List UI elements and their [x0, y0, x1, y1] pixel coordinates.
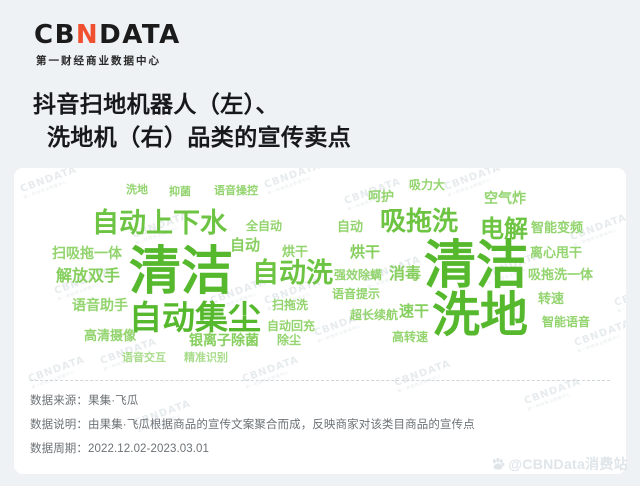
wordcloud-word: 洗地 [126, 185, 148, 196]
wordcloud-word: 高清摄像 [84, 329, 136, 342]
logo-text-part1: CB [34, 22, 76, 48]
logo-text-accent-n: N [76, 22, 99, 48]
wordcloud-word: 智能语音 [542, 316, 590, 328]
page-title: 抖音扫地机器人（左）、 洗地机（右）品类的宣传卖点 [33, 88, 593, 153]
page-title-line-2: 洗地机（右）品类的宣传卖点 [33, 121, 593, 154]
footer-divider [30, 380, 610, 381]
cbndata-logo: CB N DATA [34, 22, 434, 48]
wordcloud-word: 烘干 [350, 245, 380, 260]
wordcloud-word: 智能变频 [531, 221, 583, 234]
wordcloud-word: 全自动 [246, 220, 282, 232]
wordcloud-word: 语音提示 [332, 288, 380, 300]
wordcloud-word: 语音助手 [72, 298, 128, 312]
attribution: @CBNData消费站 [491, 454, 628, 474]
wordcloud-word: 超长续航 [350, 309, 398, 321]
wordcloud-word: 除尘 [277, 334, 301, 346]
wordcloud-word: 自动回充 [267, 320, 315, 332]
wordcloud-word: 精准识别 [184, 353, 228, 364]
logo-text-part2: DATA [99, 22, 181, 48]
wordcloud-word: 电解 [480, 218, 528, 242]
wordcloud-word: 解放双手 [56, 269, 120, 285]
wordcloud-word: 银离子除菌 [189, 333, 259, 347]
logo-subtitle: 第一财经商业数据中心 [34, 53, 434, 68]
wordcloud-word: 自动 [337, 220, 363, 233]
brand-header: CB N DATA 第一财经商业数据中心 [34, 22, 434, 68]
wordcloud-left-robot-vacuum: 清洁自动集尘自动上下水自动洗解放双手扫吸拖一体语音助手高清摄像银离子除菌除尘扫拖… [34, 168, 324, 373]
wordcloud-word: 扫吸拖一体 [52, 246, 122, 260]
wordcloud-word: 清洁 [424, 240, 528, 292]
page-title-line-1: 抖音扫地机器人（左）、 [33, 88, 593, 121]
wordcloud-word: 高转速 [392, 331, 428, 343]
wordcloud-word: 空气炸 [484, 191, 526, 205]
wordcloud-word: 离心甩干 [530, 246, 582, 259]
paw-icon [491, 457, 505, 471]
wordcloud-right-floor-washer: 清洁洗地吸拖洗电解呵护吸力大空气炸自动烘干智能变频离心甩干吸拖洗一体强效除螨消毒… [332, 168, 624, 373]
wordcloud-word: 抑菌 [169, 187, 191, 198]
wordcloud-word: 清洁 [129, 246, 233, 298]
wordcloud-word: 消毒 [389, 267, 421, 283]
data-note-line: 数据来源：果集·飞瓜 [30, 390, 615, 414]
wordcloud-word: 吸拖洗 [380, 208, 458, 234]
wordcloud-word: 强效除螨 [334, 269, 382, 281]
wordcloud-word: 语音操控 [214, 186, 258, 197]
wordcloud-word: 洗地 [432, 292, 528, 340]
wordcloud-word: 自动上下水 [92, 210, 227, 237]
wordcloud-word: 烘干 [282, 245, 308, 258]
wordcloud-word: 扫拖洗 [272, 299, 308, 311]
wordcloud-word: 语音交互 [122, 353, 166, 364]
wordcloud-word: 吸拖洗一体 [528, 268, 593, 281]
wordcloud-word: 呵护 [368, 190, 394, 203]
wordcloud-word: 转速 [538, 292, 564, 305]
data-notes: 数据来源：果集·飞瓜数据说明：由果集·飞瓜根据商品的宣传文案聚合而成，反映商家对… [30, 390, 615, 462]
attribution-handle: @CBNData消费站 [508, 454, 628, 474]
wordcloud-word: 速干 [399, 304, 429, 319]
wordcloud-card: CBNDATA第一财经商业数据中心CBNDATA第一财经商业数据中心CBNDAT… [14, 168, 626, 474]
wordcloud-word: 自动 [230, 238, 260, 253]
data-note-line: 数据说明：由果集·飞瓜根据商品的宣传文案聚合而成，反映商家对该类目商品的宣传点 [30, 414, 615, 438]
wordcloud-word: 自动洗 [252, 260, 333, 287]
wordcloud-word: 吸力大 [409, 179, 445, 191]
wordcloud-word: 自动集尘 [129, 301, 261, 334]
